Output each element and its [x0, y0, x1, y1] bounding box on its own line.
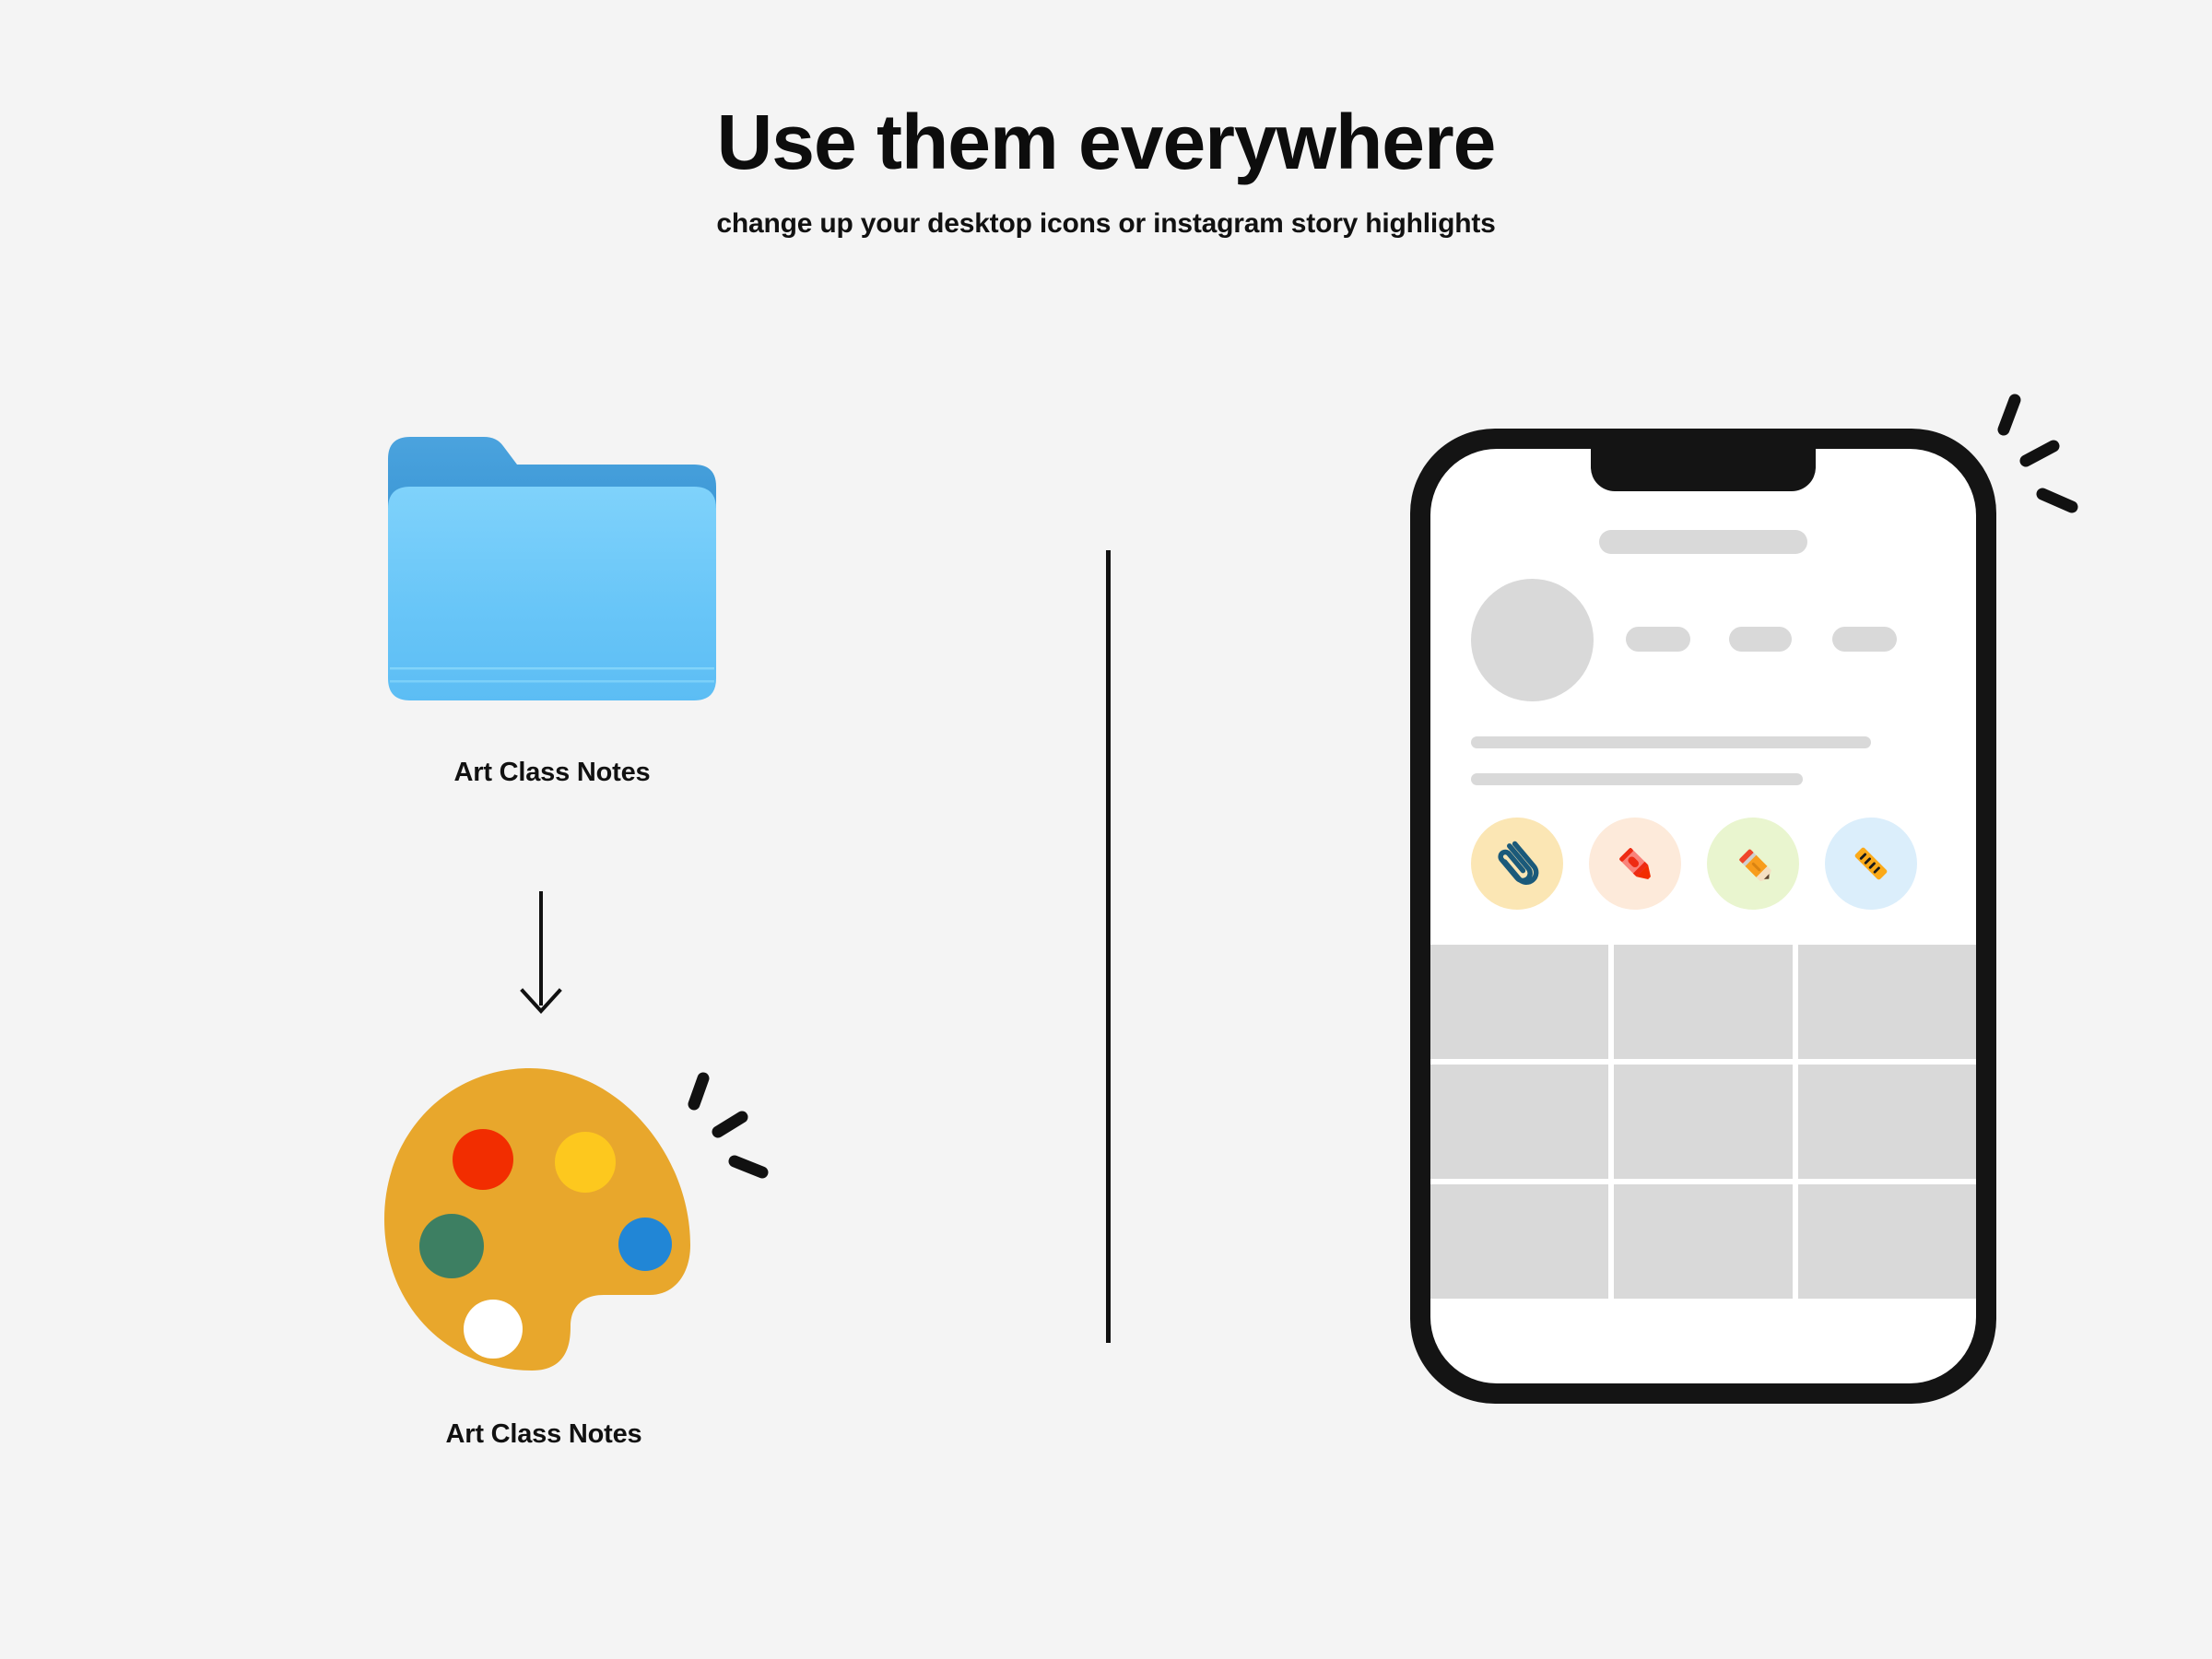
phone-screen — [1430, 449, 1976, 1383]
phone-frame — [1410, 429, 1996, 1404]
green-paint-blob — [419, 1214, 484, 1278]
followers-count-placeholder[interactable] — [1729, 627, 1792, 652]
highlight-pencil[interactable] — [1707, 818, 1799, 910]
pencil-icon — [1727, 838, 1779, 889]
bio-line-2-placeholder — [1471, 773, 1803, 785]
photo-cell-5[interactable] — [1614, 1065, 1792, 1179]
red-paint-blob — [453, 1129, 513, 1190]
photo-cell-4[interactable] — [1430, 1065, 1608, 1179]
photo-grid — [1430, 945, 1976, 1383]
photo-cell-7[interactable] — [1430, 1184, 1608, 1299]
art-palette-icon[interactable] — [373, 1065, 779, 1378]
story-highlights-row — [1471, 818, 1976, 910]
phone-notch — [1591, 449, 1816, 491]
photo-cell-8[interactable] — [1614, 1184, 1792, 1299]
profile-avatar-placeholder[interactable] — [1471, 579, 1594, 701]
folder-graphic — [382, 431, 722, 710]
highlight-paperclip[interactable] — [1471, 818, 1563, 910]
blue-paint-blob — [618, 1218, 672, 1271]
username-placeholder-bar — [1599, 530, 1807, 554]
desktop-icon-demo-column: Art Class Notes Art Class Notes — [0, 0, 1106, 1659]
yellow-paint-blob — [555, 1132, 616, 1193]
highlight-ruler[interactable] — [1825, 818, 1917, 910]
photo-cell-3[interactable] — [1798, 945, 1976, 1059]
blue-folder-icon[interactable] — [382, 431, 722, 710]
folder-label: Art Class Notes — [382, 758, 722, 788]
photo-cell-9[interactable] — [1798, 1184, 1976, 1299]
bio-line-1-placeholder — [1471, 736, 1871, 748]
sparkle-lines-icon — [677, 1069, 788, 1198]
highlight-crayon[interactable] — [1589, 818, 1681, 910]
ruler-icon — [1845, 838, 1897, 889]
smartphone-mockup — [1382, 387, 2120, 1456]
arrow-down-icon — [498, 889, 585, 1018]
posts-count-placeholder — [1626, 627, 1690, 652]
crayon-icon — [1609, 838, 1661, 889]
paperclip-icon — [1491, 838, 1543, 889]
palette-label: Art Class Notes — [369, 1419, 719, 1450]
photo-cell-2[interactable] — [1614, 945, 1792, 1059]
photo-cell-1[interactable] — [1430, 945, 1608, 1059]
white-paint-blob — [464, 1300, 523, 1359]
vertical-divider — [1106, 550, 1111, 1343]
photo-cell-6[interactable] — [1798, 1065, 1976, 1179]
following-count-placeholder[interactable] — [1832, 627, 1897, 652]
